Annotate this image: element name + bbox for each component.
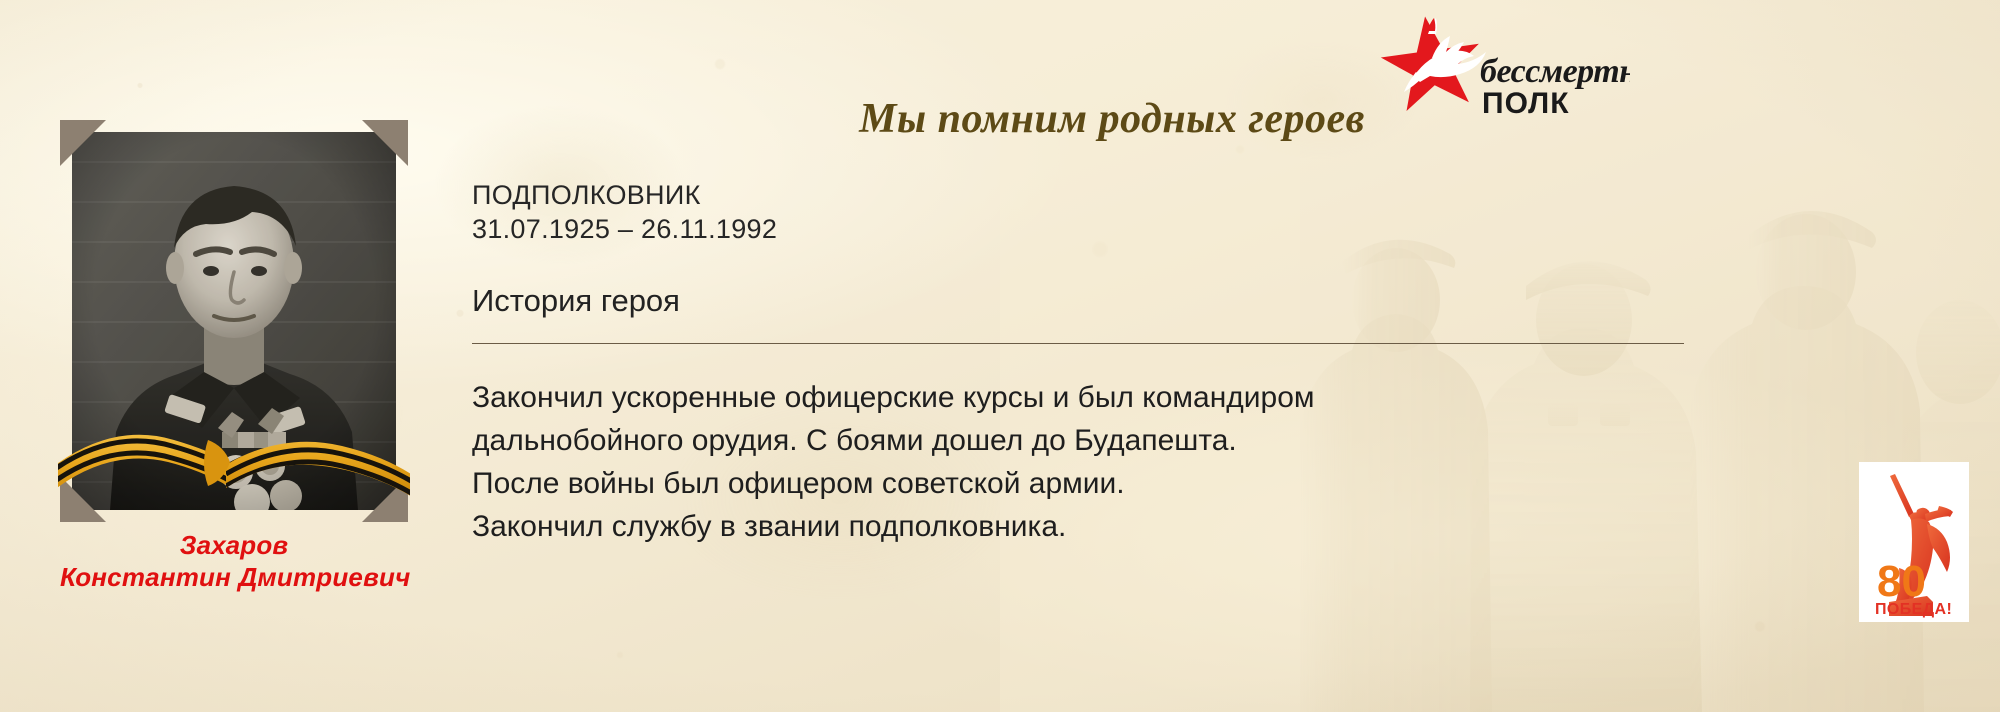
hero-photograph	[72, 132, 396, 510]
hero-story-text: Закончил ускоренные офицерские курсы и б…	[472, 376, 1315, 548]
hero-portrait-block: Захаров Константин Дмитриевич	[60, 132, 408, 593]
badge-number: 80	[1877, 557, 1926, 606]
svg-text:бессмертный: бессмертный	[1480, 53, 1630, 90]
hero-given-names: Константин Дмитриевич	[60, 562, 408, 594]
hero-life-dates: 31.07.1925 – 26.11.1992	[472, 214, 777, 245]
story-line: Закончил ускоренные офицерские курсы и б…	[472, 376, 1315, 419]
story-heading: История героя	[472, 283, 680, 319]
hero-rank: ПОДПОЛКОВНИК	[472, 180, 701, 211]
badge-caption: ПОБЕДА!	[1875, 601, 1952, 618]
photo-frame	[72, 132, 396, 510]
memorial-poster: Захаров Константин Дмитриевич Мы помним …	[0, 0, 2000, 712]
section-divider	[472, 343, 1684, 344]
hero-name: Захаров Константин Дмитриевич	[60, 530, 408, 593]
victory-80-badge: 80 ПОБЕДА!	[1859, 462, 1969, 622]
logo-block-word: ПОЛК	[1482, 87, 1570, 119]
svg-text:ПОЛК: ПОЛК	[1482, 87, 1570, 119]
story-line: дальнобойного орудия. С боями дошел до Б…	[472, 419, 1315, 462]
immortal-regiment-logo: бессмертный ПОЛК	[1380, 14, 1630, 119]
story-line: После войны был офицером советской армии…	[472, 462, 1315, 505]
story-line: Закончил службу в звании подполковника.	[472, 505, 1315, 548]
hero-surname: Захаров	[60, 530, 408, 562]
logo-script-word: бессмертный	[1480, 53, 1630, 90]
